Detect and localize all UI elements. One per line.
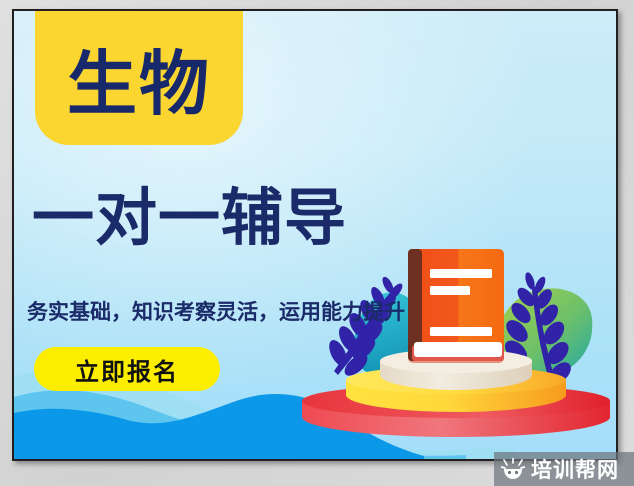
watermark-text: 培训帮网: [531, 454, 619, 484]
enroll-now-label: 立即报名: [75, 352, 179, 387]
subject-badge-label: 生物: [67, 35, 211, 119]
subject-badge: 生物: [35, 9, 243, 145]
enroll-now-button[interactable]: 立即报名: [34, 347, 220, 391]
book-podium-illustration: [290, 241, 618, 441]
promo-banner: 生物 一对一辅导 务实基础，知识考察灵活，运用能力提升 立即报名: [12, 9, 618, 461]
watermark: 培训帮网: [494, 452, 634, 486]
book-pages: [414, 342, 502, 357]
book-band-2: [430, 286, 470, 295]
book-band-1: [430, 269, 492, 278]
sun-face-icon: [501, 458, 525, 480]
orange-book: [408, 249, 504, 363]
book-band-3: [430, 327, 492, 336]
page-title: 一对一辅导: [32, 187, 347, 249]
page-backdrop: 生物 一对一辅导 务实基础，知识考察灵活，运用能力提升 立即报名 培训帮网: [0, 0, 634, 486]
subtitle-text: 务实基础，知识考察灵活，运用能力提升: [27, 302, 405, 323]
